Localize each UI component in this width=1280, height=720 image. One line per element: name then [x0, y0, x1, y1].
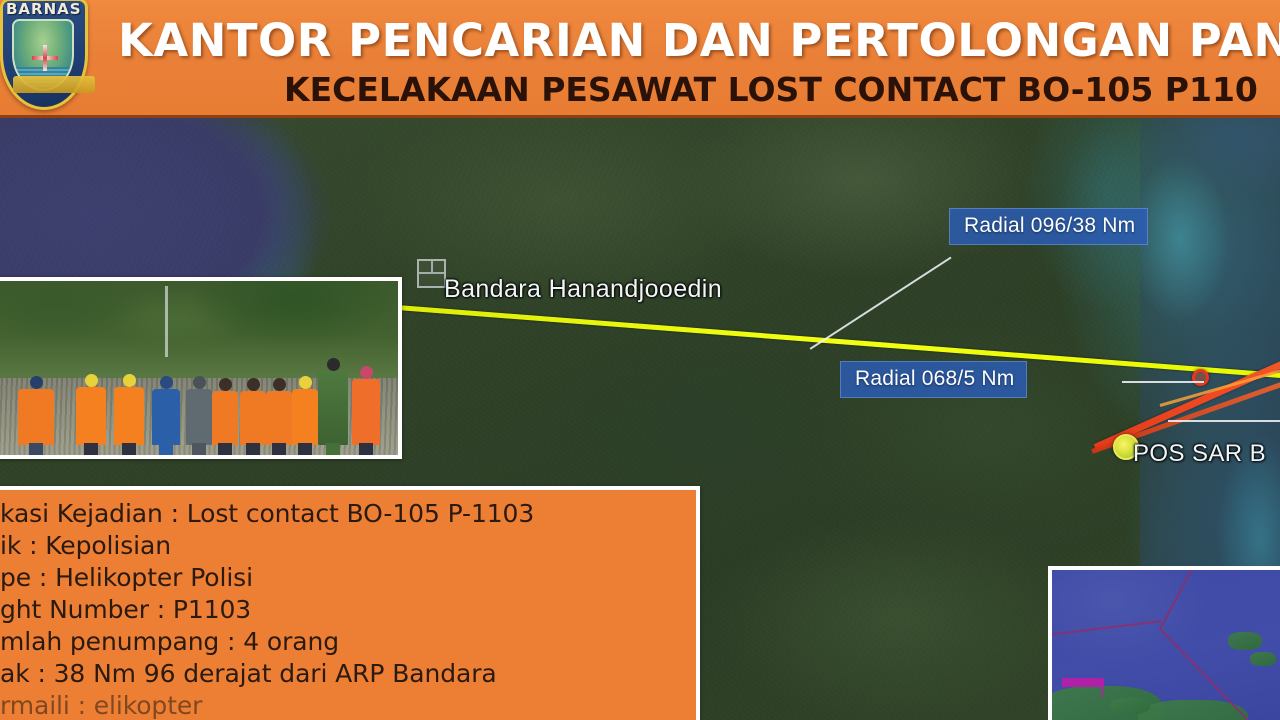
incident-info-list: kasi Kejadian : Lost contact BO-105 P-11…	[0, 498, 690, 720]
photo-person	[114, 387, 144, 445]
photo-person	[76, 387, 106, 445]
logo-ribbon	[13, 76, 95, 93]
map-label-pos-sar: POS SAR B	[1133, 440, 1266, 468]
incident-info-panel: kasi Kejadian : Lost contact BO-105 P-11…	[0, 486, 700, 720]
photo-person	[266, 391, 292, 445]
header-banner: BARNAS KANTOR PENCARIAN DAN PERTOLONGAN …	[0, 0, 1280, 118]
page-title: KANTOR PENCARIAN DAN PERTOLONGAN PANGKA	[118, 14, 1280, 67]
inset-map-land	[1228, 632, 1262, 650]
basarnas-logo: BARNAS	[0, 0, 98, 116]
photo-person	[186, 389, 212, 445]
last-known-position-marker	[1192, 369, 1209, 386]
inset-map-land	[1110, 698, 1150, 714]
info-line-lokasi-kejadian: kasi Kejadian : Lost contact BO-105 P-11…	[0, 498, 690, 530]
photo-person	[240, 391, 266, 445]
info-line-type: pe : Helikopter Polisi	[0, 562, 690, 594]
photo-person	[152, 389, 180, 445]
poster-root: Bandara Hanandjooedin POS SAR B Radial 0…	[0, 0, 1280, 720]
info-line-pemilik: ik : Kepolisian	[0, 530, 690, 562]
photo-person	[318, 371, 348, 445]
callout-radial-096: Radial 096/38 Nm	[949, 208, 1148, 245]
photo-person	[352, 379, 380, 445]
info-line-partial: rmaili : elikopter	[0, 690, 690, 720]
page-subtitle: KECELAKAAN PESAWAT LOST CONTACT BO-105 P…	[284, 70, 1258, 109]
info-line-jumlah-penumpang: mlah penumpang : 4 orang	[0, 626, 690, 658]
photo-inset-sar-team	[0, 277, 402, 459]
compass-rose-icon	[32, 45, 58, 71]
map-label-bandara-hanandjooedin: Bandara Hanandjooedin	[444, 275, 722, 304]
photo-person	[18, 389, 54, 445]
info-line-flight-number: ght Number : P1103	[0, 594, 690, 626]
logo-wordmark: BARNAS	[6, 0, 98, 18]
photo-person	[292, 389, 318, 445]
leader-line-radial-068	[1122, 381, 1204, 383]
leader-line-pos-sar	[1168, 420, 1280, 422]
photo-person	[212, 391, 238, 445]
info-line-jarak: ak : 38 Nm 96 derajat dari ARP Bandara	[0, 658, 690, 690]
inset-overview-map	[1048, 566, 1280, 720]
inset-map-label	[1062, 678, 1104, 687]
callout-radial-068: Radial 068/5 Nm	[840, 361, 1027, 398]
airport-icon	[417, 259, 446, 288]
inset-map-land	[1250, 652, 1276, 666]
